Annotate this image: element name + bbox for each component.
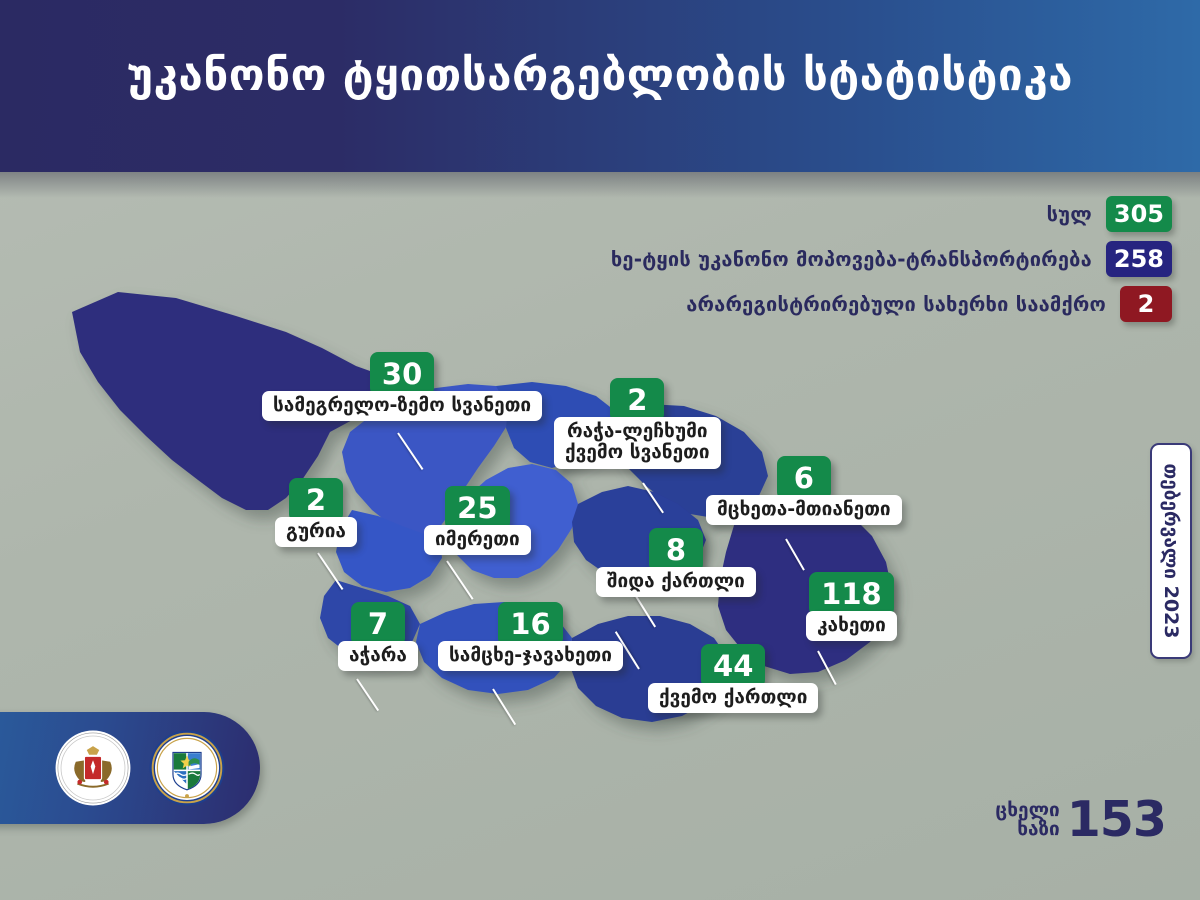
hotline-words: ცხელი ხაზი [995,801,1059,839]
legend-badge-total: 305 [1106,196,1172,232]
header-banner: უკანონო ტყითსარგებლობის სტატისტიკა [0,0,1200,172]
marker-label-adjara: აჭარა [338,641,418,671]
marker-label-mtskheta-mtianeti: მცხეთა-მთიანეთი [706,495,902,525]
map-marker-imereti[interactable]: 25 იმერეთი [424,486,531,555]
map-marker-adjara[interactable]: 7 აჭარა [338,602,418,671]
marker-value-guria: 2 [289,478,343,522]
marker-label-samegrelo-zemo-svaneti: სამეგრელო-ზემო სვანეთი [262,391,542,421]
marker-value-shida-kartli: 8 [649,528,703,572]
legend: სულ 305 ხე-ტყის უკანონო მოპოვება-ტრანსპო… [611,196,1172,322]
marker-label-imereti: იმერეთი [424,525,531,555]
marker-label-samtskhe-javakheti: სამცხე-ჯავახეთი [438,641,623,671]
department-of-environmental-supervision-seal-icon [148,729,226,807]
infographic-poster: უკანონო ტყითსარგებლობის სტატისტიკა [0,0,1200,900]
marker-value-samegrelo-zemo-svaneti: 30 [370,352,434,396]
map-marker-shida-kartli[interactable]: 8 შიდა ქართლი [596,528,756,597]
marker-value-kakheti: 118 [809,572,894,616]
marker-label-shida-kartli: შიდა ქართლი [596,567,756,597]
map-marker-samtskhe-javakheti[interactable]: 16 სამცხე-ჯავახეთი [438,602,623,671]
marker-value-adjara: 7 [351,602,405,646]
hotline-line2: ხაზი [995,820,1059,839]
legend-label-unregistered-sawmill: არარეგისტრირებული სახერხი საამქრო [686,292,1106,316]
legend-label-total: სულ [1047,202,1092,226]
map-marker-kakheti[interactable]: 118 კახეთი [806,572,897,641]
legend-row-total: სულ 305 [1047,196,1172,232]
marker-value-samtskhe-javakheti: 16 [498,602,562,646]
map-marker-racha-lechkhumi-kvemo-svaneti[interactable]: 2 რაჭა-ლეჩხუმი ქვემო სვანეთი [554,378,721,469]
hotline-number: 153 [1067,798,1166,842]
legend-row-unregistered-sawmill: არარეგისტრირებული სახერხი საამქრო 2 [686,286,1172,322]
footer-logo-badge [0,712,260,824]
marker-value-racha-lechkhumi: 2 [610,378,664,422]
legend-row-illegal-logging-transport: ხე-ტყის უკანონო მოპოვება-ტრანსპორტირება … [611,241,1172,277]
marker-value-mtskheta-mtianeti: 6 [777,456,831,500]
hotline: ცხელი ხაზი 153 [995,798,1166,842]
map-marker-guria[interactable]: 2 გურია [275,478,357,547]
marker-label-kakheti: კახეთი [806,611,897,641]
marker-label-guria: გურია [275,517,357,547]
page-title: უკანონო ტყითსარგებლობის სტატისტიკა [0,50,1200,103]
marker-label-racha-lechkhumi: რაჭა-ლეჩხუმი ქვემო სვანეთი [554,417,721,469]
ministry-of-environmental-protection-and-agriculture-seal-icon [54,729,132,807]
marker-value-imereti: 25 [445,486,509,530]
marker-label-kvemo-kartli: ქვემო ქართლი [648,683,818,713]
date-label: თებერვალი 2023 [1160,463,1182,638]
marker-value-kvemo-kartli: 44 [701,644,765,688]
legend-badge-illegal-logging-transport: 258 [1106,241,1172,277]
legend-label-illegal-logging-transport: ხე-ტყის უკანონო მოპოვება-ტრანსპორტირება [611,247,1092,271]
map-marker-samegrelo-zemo-svaneti[interactable]: 30 სამეგრელო-ზემო სვანეთი [262,352,542,421]
map-marker-mtskheta-mtianeti[interactable]: 6 მცხეთა-მთიანეთი [706,456,902,525]
legend-badge-unregistered-sawmill: 2 [1120,286,1172,322]
map-marker-kvemo-kartli[interactable]: 44 ქვემო ქართლი [648,644,818,713]
date-box: თებერვალი 2023 [1150,443,1192,659]
